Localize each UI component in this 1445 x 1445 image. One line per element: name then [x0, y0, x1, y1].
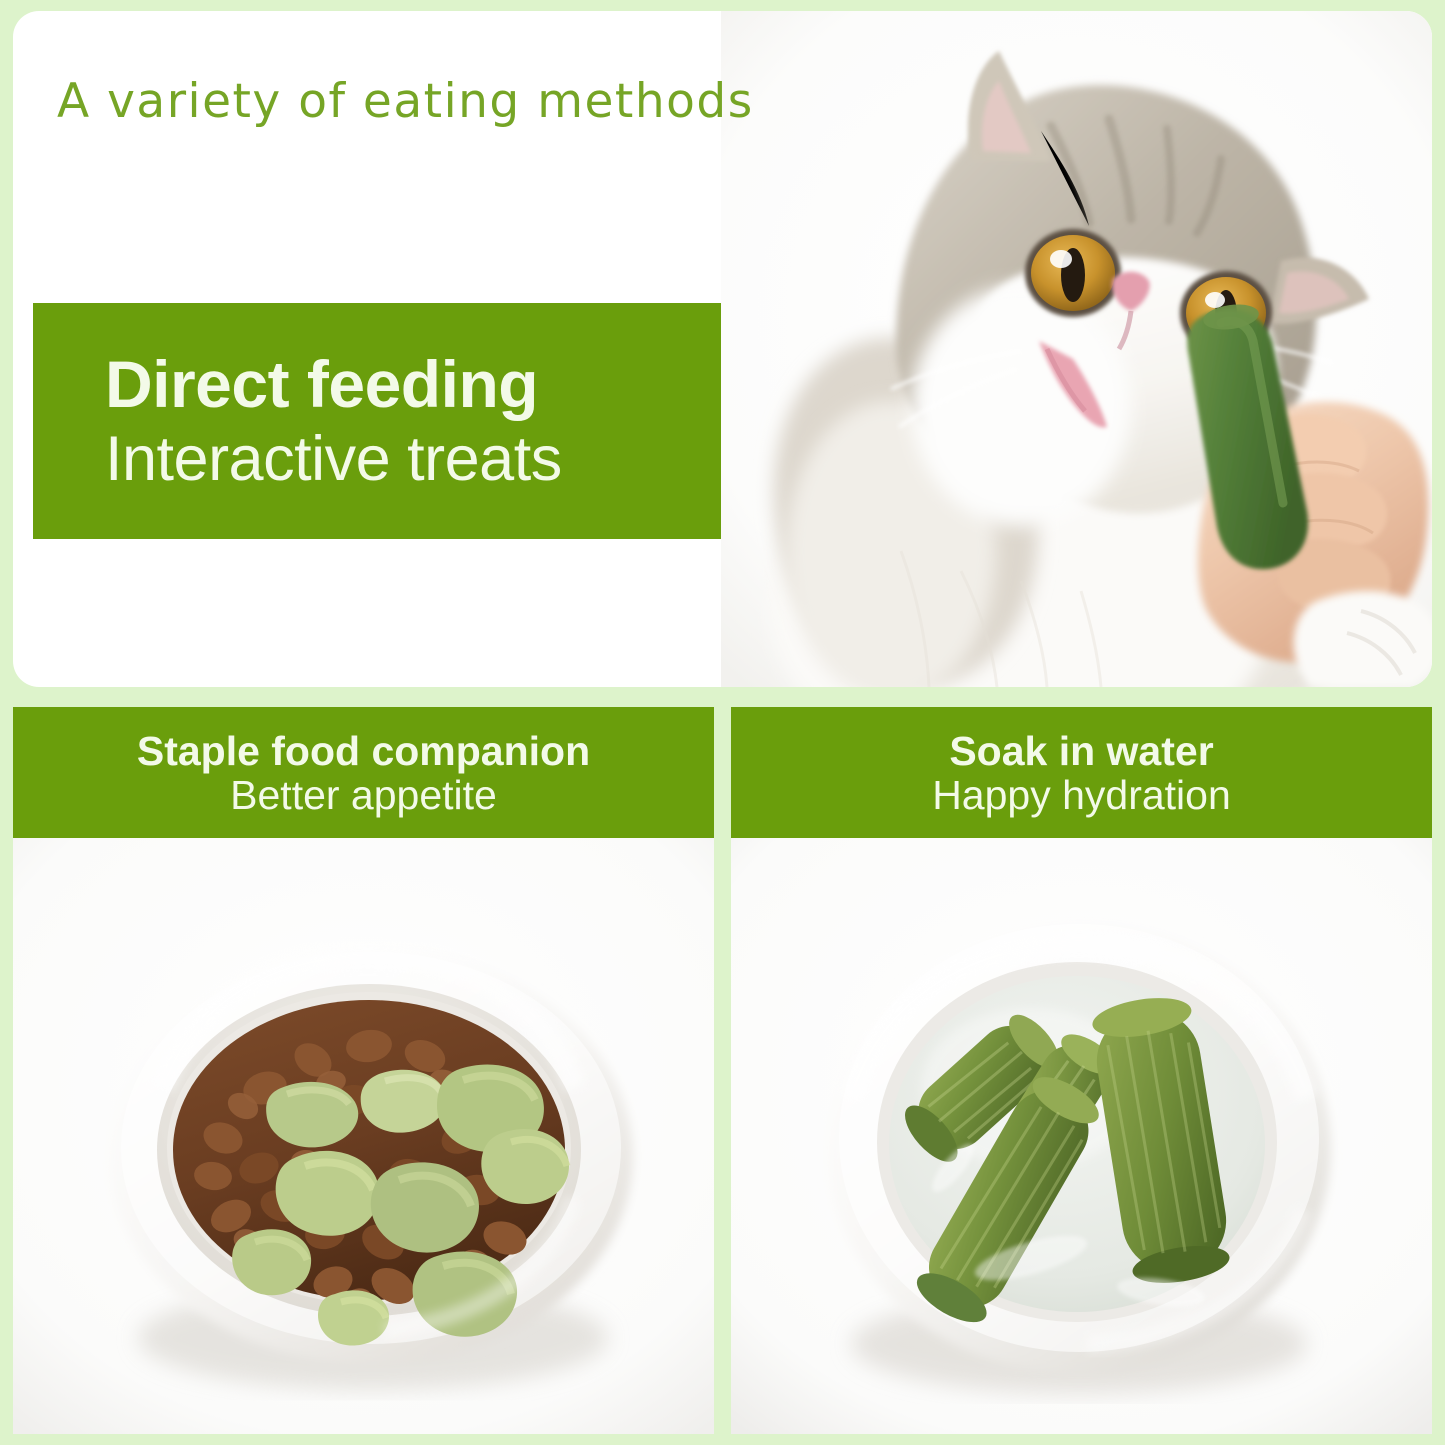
direct-feeding-subhead: Interactive treats — [105, 426, 562, 493]
top-section-card: A variety of eating methods Direct feedi… — [13, 11, 1432, 687]
product-infographic-poster: A variety of eating methods Direct feedi… — [0, 0, 1445, 1445]
page-title-text: A variety of eating methods — [57, 74, 754, 129]
staple-food-panel: Staple food companion Better appetite — [13, 707, 714, 1434]
staple-food-subhead: Better appetite — [230, 773, 497, 818]
soak-in-water-banner: Soak in water Happy hydration — [731, 707, 1432, 838]
kibble-bowl-with-catnip-crumbles-photo — [13, 838, 714, 1434]
staple-food-headline: Staple food companion — [137, 729, 590, 773]
soak-in-water-headline: Soak in water — [949, 729, 1213, 773]
cat-eye-left — [1025, 229, 1121, 317]
staple-food-banner: Staple food companion Better appetite — [13, 707, 714, 838]
page-title: A variety of eating methods — [57, 66, 917, 138]
direct-feeding-banner: Direct feeding Interactive treats — [33, 303, 721, 539]
soak-in-water-panel: Soak in water Happy hydration — [731, 707, 1432, 1434]
catnip-sticks-soaking-in-water-bowl-photo — [731, 838, 1432, 1434]
direct-feeding-headline: Direct feeding — [105, 350, 538, 420]
soak-in-water-subhead: Happy hydration — [932, 773, 1231, 818]
